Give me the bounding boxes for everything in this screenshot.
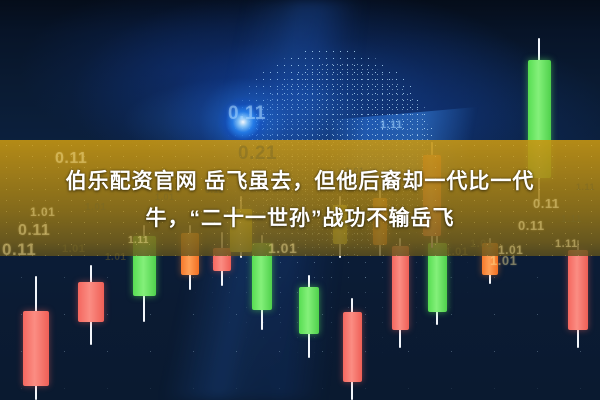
price-number: 1.01 <box>268 240 297 256</box>
headline-line-1: 伯乐配资官网 岳飞虽去，但他后裔却一代比一代 <box>10 163 590 200</box>
price-number: 1.01 <box>105 252 126 263</box>
price-number: 1.11 <box>380 119 403 131</box>
price-number: 0.11 <box>2 240 36 260</box>
price-number: 1.01 <box>62 243 85 255</box>
price-number: 1.11 <box>555 238 578 250</box>
banner-image: 0.110.211.110.111.111.011.010.111.010.11… <box>0 0 600 400</box>
page-title: 伯乐配资官网 岳飞虽去，但他后裔却一代比一代 牛，“二十一世孙”战功不输岳飞 <box>0 163 600 237</box>
price-number: 0.21 <box>238 143 277 165</box>
price-number: 0.11 <box>228 103 266 125</box>
price-number: 1.01 <box>490 253 517 268</box>
price-number: 1.01 <box>470 238 493 250</box>
price-number: 1.01 <box>445 246 468 258</box>
headline-line-2: 牛，“二十一世孙”战功不输岳飞 <box>10 200 590 237</box>
